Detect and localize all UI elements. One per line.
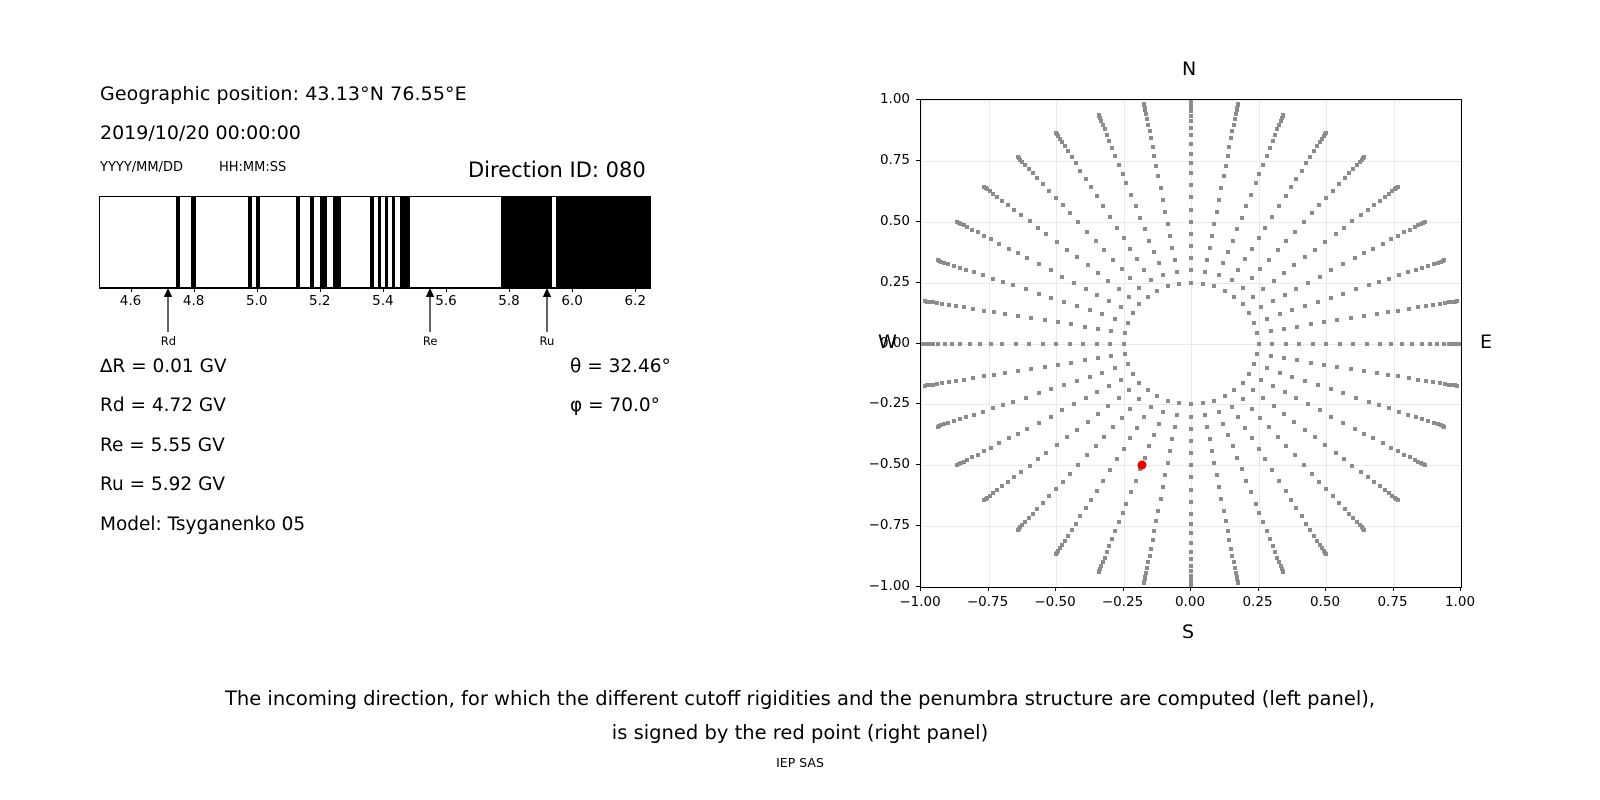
direction-point (1290, 375, 1294, 379)
direction-point (1396, 449, 1400, 453)
direction-point (1031, 171, 1035, 175)
penumbra-band (320, 197, 326, 287)
direction-point (1062, 300, 1066, 304)
direction-point (1084, 396, 1088, 400)
direction-point (1107, 139, 1111, 143)
direction-point (1101, 479, 1105, 483)
direction-point (1276, 248, 1280, 252)
direction-point (1284, 239, 1288, 243)
y-axis-tick (916, 464, 920, 465)
direction-point (1236, 102, 1240, 106)
direction-point (1303, 304, 1307, 308)
direction-point (1068, 211, 1072, 215)
direction-point (1240, 216, 1244, 220)
direction-point (1428, 342, 1432, 346)
direction-point (1442, 425, 1446, 429)
direction-point (976, 453, 980, 457)
penumbra-bar-track (99, 196, 651, 288)
caption-line-2: is signed by the red point (right panel) (0, 716, 1600, 750)
direction-point (1300, 514, 1304, 518)
direction-point (1257, 172, 1261, 176)
x-axis-tick (1190, 587, 1191, 591)
direction-point (1365, 342, 1369, 346)
direction-point (1407, 307, 1411, 311)
direction-scatter-plot (920, 99, 1462, 588)
direction-point (1027, 516, 1031, 520)
direction-point (1455, 384, 1459, 388)
penumbra-bar-chart (99, 196, 651, 288)
direction-point (1103, 127, 1107, 131)
direction-point (1065, 248, 1069, 252)
penumbra-axis-tick (509, 288, 510, 292)
direction-point (1309, 361, 1313, 365)
direction-point (1423, 220, 1427, 224)
direction-point (935, 301, 939, 305)
direction-point (1189, 564, 1193, 568)
direction-point (1095, 293, 1099, 297)
direction-point (1254, 181, 1258, 185)
direction-point (1247, 372, 1251, 376)
direction-point (1284, 194, 1288, 198)
direction-point (1243, 426, 1247, 430)
direction-point (1243, 257, 1247, 261)
direction-point (1152, 529, 1156, 533)
x-axis-tick-label: 0.25 (1242, 594, 1272, 610)
direction-point (1249, 193, 1253, 197)
direction-point (1277, 123, 1281, 127)
direction-point (1003, 312, 1007, 316)
direction-point (1351, 167, 1355, 171)
direction-point (1126, 321, 1130, 325)
direction-point (1302, 463, 1306, 467)
direction-point (1386, 310, 1390, 314)
direction-point (1362, 528, 1366, 532)
y-axis-tick-label: 0.00 (848, 335, 910, 351)
direction-point (1375, 371, 1379, 375)
direction-point (1261, 396, 1265, 400)
direction-point (952, 419, 956, 423)
direction-point (1149, 278, 1153, 282)
direction-point (1131, 372, 1135, 376)
direction-point (1396, 309, 1400, 313)
direction-point (1424, 379, 1428, 383)
direction-point (1189, 488, 1193, 492)
direction-point (1142, 268, 1146, 272)
direction-point (1308, 155, 1312, 159)
direction-point (1096, 356, 1100, 360)
direction-point (1215, 210, 1219, 214)
direction-point (1163, 210, 1167, 214)
rigidity-marker-rd-label: Rd (161, 334, 176, 348)
direction-point (1054, 552, 1058, 556)
direction-point (1257, 447, 1261, 451)
direction-point (1007, 247, 1011, 251)
direction-point (1137, 302, 1141, 306)
direction-point (978, 342, 982, 346)
direction-map-panel: N S E W −1.00−0.75−0.50−0.250.000.250.50… (790, 0, 1600, 680)
direction-point (1426, 419, 1430, 423)
penumbra-axis-tick-label: 5.0 (246, 293, 267, 309)
gridline-horizontal (921, 587, 1461, 588)
direction-point (1113, 317, 1117, 321)
direction-point (1189, 195, 1193, 199)
direction-point (1312, 149, 1316, 153)
direction-point (1251, 388, 1255, 392)
x-axis-tick (1123, 587, 1124, 591)
direction-point (1438, 302, 1442, 306)
direction-point (1149, 136, 1153, 140)
direction-point (1110, 537, 1114, 541)
direction-point (1075, 428, 1079, 432)
cutoff-value-row: Ru = 5.92 GV (100, 474, 225, 495)
direction-point (1177, 401, 1181, 405)
x-axis-tick-label: −0.25 (1102, 594, 1143, 610)
rigidity-marker-rd-arrow (161, 288, 175, 332)
direction-point (1157, 261, 1161, 265)
x-axis-tick (1055, 587, 1056, 591)
direction-point (947, 303, 951, 307)
direction-point (1329, 296, 1333, 300)
direction-point (1420, 266, 1424, 270)
direction-point (1189, 114, 1193, 118)
direction-point (1324, 196, 1328, 200)
direction-point (972, 413, 976, 417)
direction-point (1102, 248, 1106, 252)
direction-point (964, 415, 968, 419)
direction-point (1247, 311, 1251, 315)
direction-point (1252, 321, 1256, 325)
penumbra-axis-tick-label: 4.6 (120, 293, 141, 309)
direction-point (1232, 560, 1236, 564)
direction-point (1036, 226, 1040, 230)
direction-point (958, 417, 962, 421)
direction-point (1359, 470, 1363, 474)
direction-point (943, 342, 947, 346)
direction-point (1076, 463, 1080, 467)
direction-point (982, 374, 986, 378)
direction-point (1137, 397, 1141, 401)
penumbra-panel: Geographic position: 43.13°N 76.55°E 201… (0, 0, 760, 680)
direction-point (1232, 388, 1236, 392)
direction-point (1408, 455, 1412, 459)
direction-point (1189, 451, 1193, 455)
direction-point (1089, 498, 1093, 502)
direction-point (1054, 342, 1058, 346)
direction-point (1306, 281, 1310, 285)
direction-point (971, 376, 975, 380)
direction-point (1381, 441, 1385, 445)
direction-point (1263, 457, 1267, 461)
direction-point (1054, 196, 1058, 200)
direction-point (1066, 534, 1070, 538)
direction-point (1265, 366, 1269, 370)
direction-point (1115, 226, 1119, 230)
direction-point (1095, 342, 1099, 346)
direction-point (1120, 267, 1124, 271)
direction-point (1208, 246, 1212, 250)
direction-point (1423, 463, 1427, 467)
x-axis-tick (920, 587, 921, 591)
direction-point (1014, 342, 1018, 346)
direction-point (1217, 485, 1221, 489)
direction-point (1152, 154, 1156, 158)
selected-direction-point[interactable] (1138, 461, 1147, 470)
penumbra-band (370, 197, 374, 287)
direction-point (1019, 213, 1023, 217)
direction-point (1054, 487, 1058, 491)
direction-point (1338, 342, 1342, 346)
direction-point (1027, 342, 1031, 346)
direction-point (1235, 227, 1239, 231)
direction-point (1219, 497, 1223, 501)
direction-point (1078, 514, 1082, 518)
direction-point (1108, 215, 1112, 219)
direction-point (1131, 311, 1135, 315)
direction-point (1402, 453, 1406, 457)
direction-point (1329, 268, 1333, 272)
direction-point (1096, 412, 1100, 416)
direction-point (1061, 480, 1065, 484)
direction-point (1217, 198, 1221, 202)
direction-point (1318, 408, 1322, 412)
direction-point (1236, 415, 1240, 419)
x-axis-tick (1460, 587, 1461, 591)
direction-point (1407, 376, 1411, 380)
direction-point (1063, 144, 1067, 148)
penumbra-band (248, 197, 252, 287)
y-axis-tick-label: −1.00 (848, 578, 910, 594)
direction-point (1250, 276, 1254, 280)
direction-point (936, 258, 940, 262)
direction-point (1359, 213, 1363, 217)
direction-point (981, 410, 985, 414)
direction-point (1044, 451, 1048, 455)
direction-point (935, 382, 939, 386)
direction-point (1189, 541, 1193, 545)
direction-point (1102, 435, 1106, 439)
penumbra-axis-tick (320, 288, 321, 292)
y-axis-tick-label: −0.50 (848, 456, 910, 472)
direction-point (1271, 139, 1275, 143)
direction-point (1402, 230, 1406, 234)
direction-point (1316, 383, 1320, 387)
direction-point (1322, 363, 1326, 367)
direction-point (1252, 362, 1256, 366)
direction-point (1189, 500, 1193, 504)
caption-line-1: The incoming direction, for which the di… (0, 682, 1600, 716)
rigidity-marker-ru-label: Ru (540, 334, 555, 348)
direction-point (1229, 547, 1233, 551)
direction-point (1227, 145, 1231, 149)
direction-point (981, 273, 985, 277)
direction-point (1108, 468, 1112, 472)
direction-point (1334, 232, 1338, 236)
direction-point (1378, 342, 1382, 346)
direction-point (1371, 436, 1375, 440)
direction-point (1426, 264, 1430, 268)
x-axis-tick (1393, 587, 1394, 591)
direction-point (1069, 322, 1073, 326)
penumbra-band (176, 197, 180, 287)
x-axis-tick-label: 0.00 (1175, 594, 1205, 610)
direction-point (1095, 194, 1099, 198)
direction-point (1351, 342, 1355, 346)
direction-point (1161, 273, 1165, 277)
direction-point (1284, 444, 1288, 448)
direction-point (1268, 146, 1272, 150)
direction-point (1297, 342, 1301, 346)
direction-point (1389, 237, 1393, 241)
direction-point (1189, 427, 1193, 431)
direction-point (958, 342, 962, 346)
direction-point (1270, 342, 1274, 346)
direction-point (1106, 404, 1110, 408)
direction-point (1151, 145, 1155, 149)
direction-point (1221, 422, 1225, 426)
direction-point (1244, 479, 1248, 483)
direction-point (1406, 413, 1410, 417)
direction-point (1371, 247, 1375, 251)
direction-point (1128, 436, 1132, 440)
direction-point (1028, 464, 1032, 468)
direction-point (1128, 247, 1132, 251)
direction-point (1041, 182, 1045, 186)
direction-point (1055, 443, 1059, 447)
direction-point (1142, 102, 1146, 106)
direction-point (1088, 375, 1092, 379)
direction-point (1311, 342, 1315, 346)
direction-point (965, 225, 969, 229)
direction-point (1043, 318, 1047, 322)
direction-point (1134, 479, 1138, 483)
direction-point (1372, 203, 1376, 207)
direction-point (1135, 257, 1139, 261)
direction-point (1121, 511, 1125, 515)
direction-point (1341, 391, 1345, 395)
direction-point (989, 342, 993, 346)
direction-point (1037, 391, 1041, 395)
direction-point (1289, 498, 1293, 502)
direction-point (1255, 352, 1259, 356)
direction-point (1334, 451, 1338, 455)
direction-point (1189, 475, 1193, 479)
direction-point (1168, 234, 1172, 238)
direction-point (1292, 420, 1296, 424)
x-axis-tick-label: −0.75 (967, 594, 1008, 610)
direction-point (962, 305, 966, 309)
direction-point (1175, 413, 1179, 417)
direction-point (1289, 185, 1293, 189)
direction-point (1000, 342, 1004, 346)
direction-point (1310, 211, 1314, 215)
direction-point (1189, 268, 1193, 272)
direction-point (1282, 412, 1286, 416)
penumbra-axis-tick-label: 6.2 (624, 293, 645, 309)
direction-point (1367, 283, 1371, 287)
direction-point (1397, 410, 1401, 414)
direction-point (1241, 397, 1245, 401)
direction-id-label: Direction ID: 080 (468, 158, 646, 182)
direction-point (1224, 519, 1228, 523)
direction-point (1016, 432, 1020, 436)
direction-point (1029, 316, 1033, 320)
direction-point (1065, 435, 1069, 439)
direction-point (1135, 426, 1139, 430)
y-axis-tick (916, 343, 920, 344)
direction-point (1110, 146, 1114, 150)
direction-point (1265, 317, 1269, 321)
direction-point (1267, 258, 1271, 262)
direction-point (936, 342, 940, 346)
direction-point (1261, 287, 1265, 291)
credit-label: IEP SAS (0, 755, 1600, 770)
direction-point (1096, 327, 1100, 331)
direction-point (1189, 161, 1193, 165)
direction-point (1312, 534, 1316, 538)
direction-point (1281, 113, 1285, 117)
direction-point (1387, 277, 1391, 281)
direction-point (1029, 367, 1033, 371)
direction-point (1155, 289, 1159, 293)
direction-point (1259, 305, 1263, 309)
direction-point (1258, 267, 1262, 271)
direction-point (1241, 286, 1245, 290)
direction-point (1072, 402, 1076, 406)
direction-point (936, 425, 940, 429)
direction-point (1060, 275, 1064, 279)
direction-point (1129, 193, 1133, 197)
direction-point (989, 446, 993, 450)
direction-point (1075, 255, 1079, 259)
direction-point (1054, 131, 1058, 135)
direction-point (997, 441, 1001, 445)
direction-point (1124, 502, 1128, 506)
direction-point (1189, 402, 1193, 406)
direction-point (1049, 296, 1053, 300)
direction-point (1189, 152, 1193, 156)
direction-point (1076, 220, 1080, 224)
direction-point (1189, 439, 1193, 443)
direction-point (965, 458, 969, 462)
direction-point (1249, 490, 1253, 494)
penumbra-band (256, 197, 260, 287)
direction-point (1062, 383, 1066, 387)
direction-point (1396, 234, 1400, 238)
direction-point (1037, 421, 1041, 425)
direction-point (1103, 556, 1107, 560)
direction-point (1035, 176, 1039, 180)
direction-point (1055, 240, 1059, 244)
direction-point (1362, 314, 1366, 318)
direction-point (1189, 220, 1193, 224)
direction-point (1219, 186, 1223, 190)
direction-point (1329, 387, 1333, 391)
direction-point (1161, 410, 1165, 414)
direction-point (1117, 520, 1121, 524)
direction-point (995, 195, 999, 199)
direction-point (1331, 494, 1335, 498)
direction-point (1166, 461, 1170, 465)
direction-point (1173, 258, 1177, 262)
y-axis-tick (916, 221, 920, 222)
direction-point (1378, 199, 1382, 203)
x-axis-tick (1325, 587, 1326, 591)
direction-point (946, 262, 950, 266)
direction-point (1041, 501, 1045, 505)
direction-point (1203, 413, 1207, 417)
penumbra-axis-tick-label: 4.8 (183, 293, 204, 309)
direction-point (1324, 342, 1328, 346)
